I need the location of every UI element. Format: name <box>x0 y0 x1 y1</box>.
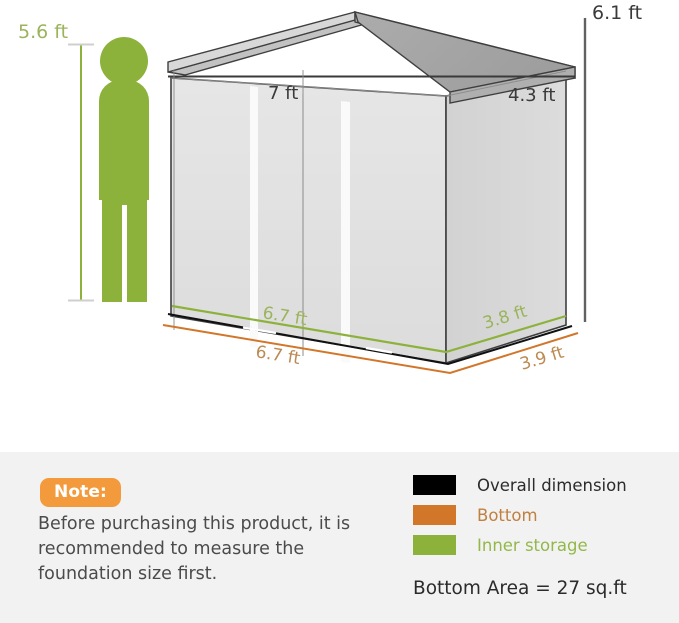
legend-label-inner: Inner storage <box>477 536 588 555</box>
shed-front-wall <box>171 78 446 363</box>
shed-illustration: 5.6 ft <box>0 0 679 452</box>
person-height-measure <box>68 44 94 301</box>
dim-overall-width: 7 ft <box>268 83 298 104</box>
legend-label-bottom: Bottom <box>477 506 538 525</box>
legend-swatch-overall <box>413 475 456 495</box>
shed-diagram: 5.6 ft <box>0 0 679 452</box>
note-badge: Note: <box>40 478 121 507</box>
dim-side-height: 4.3 ft <box>508 85 555 106</box>
diagram-stage: 5.6 ft <box>0 0 679 623</box>
legend-swatch-bottom <box>413 505 456 525</box>
dim-bottom-depth: 3.9 ft <box>518 342 567 374</box>
legend-item-bottom: Bottom <box>413 500 627 530</box>
dim-person-height: 5.6 ft <box>18 21 68 43</box>
legend-item-overall: Overall dimension <box>413 470 627 500</box>
bottom-area-text: Bottom Area = 27 sq.ft <box>413 578 627 599</box>
note-text: Before purchasing this product, it is re… <box>38 512 368 587</box>
person-silhouette-icon <box>99 37 149 302</box>
dim-overall-height: 6.1 ft <box>592 2 642 24</box>
legend: Overall dimension Bottom Inner storage <box>413 470 627 560</box>
legend-item-inner: Inner storage <box>413 530 627 560</box>
legend-swatch-inner <box>413 535 456 555</box>
legend-label-overall: Overall dimension <box>477 476 627 495</box>
